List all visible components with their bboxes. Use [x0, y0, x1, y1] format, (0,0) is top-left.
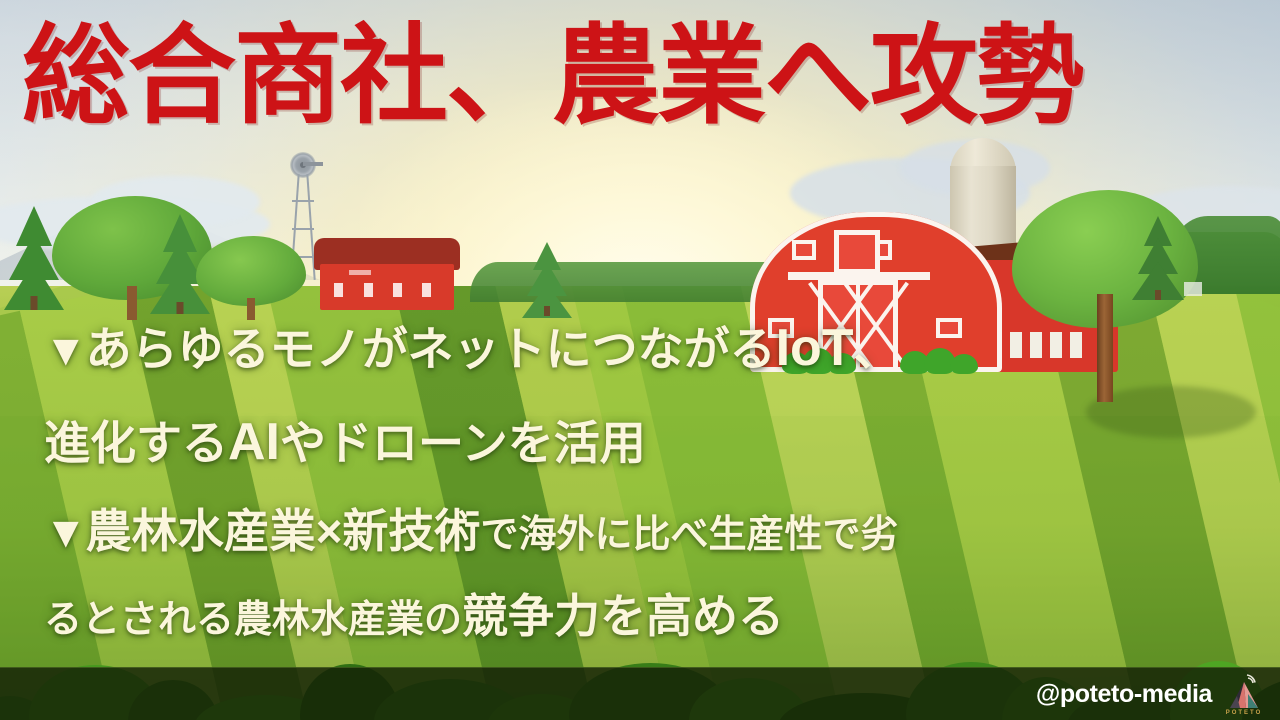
- infographic-card: 総合商社、農業へ攻勢 ▼あらゆるモノがネットにつながるIoT、進化するAIやドロ…: [0, 0, 1280, 720]
- page-title: 総合商社、農業へ攻勢: [22, 12, 1262, 139]
- far-right-marker: [1184, 282, 1202, 296]
- line-3: ▼農林水産業×新技術で海外に比べ生産性で劣: [44, 508, 1254, 555]
- tree-trunk: [127, 286, 137, 320]
- body-text-block: ▼あらゆるモノがネットにつながるIoT、進化するAIやドローンを活用▼農林水産業…: [44, 322, 1254, 639]
- line-1-seg-3: 、: [854, 323, 900, 375]
- line-4: るとされる農林水産業の競争力を高める: [44, 593, 1254, 639]
- line-2-seg-1: AI: [228, 413, 280, 471]
- barn-window-upper-left: [792, 240, 816, 260]
- line-1-seg-2: IoT: [776, 319, 854, 377]
- line-2: 進化するAIやドローンを活用: [44, 416, 1254, 468]
- line-1-seg-0: ▼: [44, 326, 86, 375]
- line-1: ▼あらゆるモノがネットにつながるIoT、: [44, 322, 1254, 374]
- footer-content: @poteto-media POTETO: [1036, 668, 1264, 720]
- windmill-tail: [303, 162, 323, 166]
- small-barn: [314, 238, 460, 310]
- barn-hayloft-window: [834, 230, 880, 274]
- round-tree-left-2: [196, 236, 306, 320]
- line-4-seg-1: 競争力を高める: [462, 590, 784, 642]
- line-4-seg-0: るとされる農林水産業の: [44, 599, 462, 641]
- barn-beam: [788, 272, 930, 280]
- line-3-seg-0: ▼: [44, 508, 86, 557]
- conifer-tree-center: [520, 242, 574, 316]
- conifer-tree-right: [1130, 216, 1186, 300]
- social-handle: @poteto-media: [1036, 680, 1212, 709]
- line-1-seg-1: あらゆるモノがネットにつながる: [86, 323, 776, 375]
- line-3-seg-2: で海外に比べ生産性で劣: [480, 514, 898, 556]
- footer-bar: @poteto-media POTETO: [0, 667, 1280, 720]
- line-2-seg-0: 進化する: [44, 417, 228, 469]
- poteto-logo-icon: POTETO: [1224, 674, 1264, 716]
- line-3-seg-1: 農林水産業×新技術: [86, 505, 481, 557]
- line-2-seg-2: やドローンを活用: [280, 417, 646, 469]
- poteto-logo-word: POTETO: [1224, 710, 1264, 716]
